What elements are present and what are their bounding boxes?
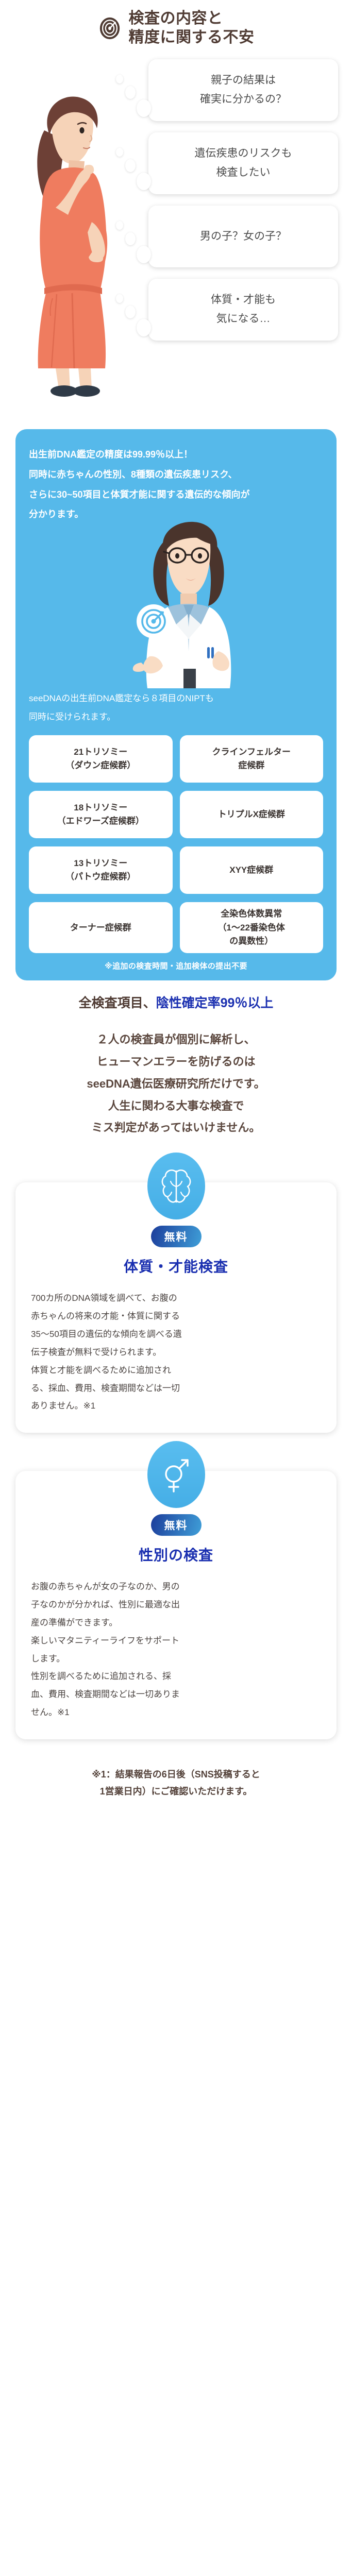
accuracy-statement-heading-plain: 全検査項目、 [79,996,156,1010]
nipt-item-line-1: 全染色体数異常 [218,907,285,921]
footnote-line-2: 1営業日内）にご確認いただけます。 [15,1783,337,1800]
page-header: 検査の内容と 精度に関する不安 [0,0,352,52]
nipt-item-line-1: XYY症候群 [229,863,273,877]
feature-line-6: 性別を調べるために追加される、採 [31,1668,321,1686]
feature-title: 性別の検査 [31,1544,321,1565]
nipt-item-line-2: 症候群 [212,759,291,772]
feature-card-gender: 無料 性別の検査 お腹の赤ちゃんが女の子なのか、男の 子なのかが分かれば、性別に… [15,1471,337,1739]
accuracy-lead-text: 出生前DNA鑑定の精度は99.99％以上！ 同時に赤ちゃんの性別、8種類の遺伝疾… [29,445,323,524]
feature-line-7: 血、費用、検査期間などは一切ありま [31,1686,321,1704]
nipt-intro-line-2: 同時に受けられます。 [29,708,323,726]
feature-card-trait-talent: 無料 体質・才能検査 700カ所のDNA領域を調べて、お腹の 赤ちゃんの将来の才… [15,1182,337,1433]
thought-bubble: 男の子？女の子？ [148,206,338,267]
feature-line-2: 子なのかが分かれば、性別に最適な出 [31,1596,321,1614]
thought-bubble-text: 親子の結果は 確実に分かるの？ [200,71,287,109]
nipt-item-label: クラインフェルター 症候群 [212,745,291,773]
feature-line-3: 産の準備ができます。 [31,1614,321,1632]
thought-bubble-text: 男の子？女の子？ [200,227,287,246]
feature-line-5: 体質と才能を調べるために追加され [31,1362,321,1380]
nipt-item-line-1: 18トリソミー [57,801,144,815]
statement-body-line-5: ミス判定があってはいけません。 [18,1117,334,1139]
nipt-item-line-1: 21トリソミー [65,745,136,759]
nipt-item-label: ターナー症候群 [70,921,131,935]
nipt-item-line-2: （パトウ症候群） [65,870,136,884]
nipt-item: ターナー症候群 [29,902,173,953]
footnote-line-1: ※1：結果報告の6日後（SNS投稿すると [15,1766,337,1783]
statement-body-line-4: 人生に関わる大事な検査で [18,1095,334,1117]
nipt-item: クラインフェルター 症候群 [180,735,324,783]
free-badge: 無料 [151,1514,202,1536]
feature-card-body: 無料 体質・才能検査 700カ所のDNA領域を調べて、お腹の 赤ちゃんの将来の才… [15,1182,337,1433]
bubble-line-2: 確実に分かるの？ [200,90,287,109]
nipt-item-label: 全染色体数異常 （1〜22番染色体 の異数性） [218,907,285,948]
nipt-intro-text: seeDNAの出生前DNA鑑定なら８項目のNIPTも 同時に受けられます。 [29,689,323,726]
nipt-item-line-2: （エドワーズ症候群） [57,815,144,828]
bubble-line-1: 親子の結果は [211,74,276,86]
feature-description: 700カ所のDNA領域を調べて、お腹の 赤ちゃんの将来の才能・体質に関する 35… [31,1290,321,1415]
page-title: 検査の内容と 精度に関する不安 [129,9,255,47]
accuracy-lead-line-2: 同時に赤ちゃんの性別、8種類の遺伝疾患リスク、 [29,465,323,485]
nipt-item: 21トリソミー （ダウン症候群） [29,735,173,783]
nipt-item-line-2: （ダウン症候群） [65,759,136,772]
hero-section: 親子の結果は 確実に分かるの？ 遺伝疾患のリスクも 検査したい 男の子？女の子？ [0,59,352,420]
page-footnote: ※1：結果報告の6日後（SNS投稿すると 1営業日内）にご確認いただけます。 [0,1766,352,1801]
feature-line-1: 700カ所のDNA領域を調べて、お腹の [31,1290,321,1308]
feature-line-6: る、採血、費用、検査期間などは一切 [31,1380,321,1398]
free-badge: 無料 [151,1226,202,1247]
thought-bubble-text: 体質・才能も 気になる… [211,291,276,329]
nipt-item-label: 18トリソミー （エドワーズ症候群） [57,801,144,828]
accuracy-lead-line-1: 出生前DNA鑑定の精度は99.99％以上！ [29,445,323,465]
statement-body-line-2: ヒューマンエラーを防げるのは [18,1051,334,1073]
nipt-item: 全染色体数異常 （1〜22番染色体 の異数性） [180,902,324,953]
statement-body-line-3: seeDNA遺伝医療研究所だけです。 [18,1073,334,1095]
nipt-item-label: トリプルX症候群 [218,808,285,821]
page-title-line1: 検査の内容と [129,10,223,27]
accuracy-lead-line-4: 分かります。 [29,504,323,524]
nipt-item-line-3: の異数性） [218,935,285,948]
nipt-item-label: 13トリソミー （パトウ症候群） [65,857,136,884]
feature-line-4: 楽しいマタニティーライフをサポート [31,1632,321,1650]
feature-line-3: 35〜50項目の遺伝的な傾向を調べる遺 [31,1326,321,1344]
target-icon [98,16,122,40]
feature-line-1: お腹の赤ちゃんが女の子なのか、男の [31,1578,321,1596]
statement-body-line-1: ２人の検査員が個別に解析し、 [18,1029,334,1051]
nipt-item: 18トリソミー （エドワーズ症候群） [29,791,173,838]
bubble-line-2: 気になる… [211,310,276,329]
nipt-item-label: XYY症候群 [229,863,273,877]
nipt-item-grid: 21トリソミー （ダウン症候群） クラインフェルター 症候群 18トリソミー （… [29,735,323,953]
pregnant-woman-illustration [14,70,128,399]
doctor-illustration-wrap [29,522,323,688]
feature-title: 体質・才能検査 [31,1256,321,1276]
accuracy-info-card: 出生前DNA鑑定の精度は99.99％以上！ 同時に赤ちゃんの性別、8種類の遺伝疾… [15,429,337,980]
nipt-item-line-1: 13トリソミー [65,857,136,870]
brain-icon [147,1153,205,1219]
gender-symbol-icon [147,1441,205,1508]
bubble-line-1: 男の子？女の子？ [200,230,287,242]
accuracy-statement-body: ２人の検査員が個別に解析し、 ヒューマンエラーを防げるのは seeDNA遺伝医療… [18,1029,334,1139]
thought-bubble-text: 遺伝疾患のリスクも 検査したい [195,144,292,182]
female-doctor-illustration [111,518,266,688]
feature-description: お腹の赤ちゃんが女の子なのか、男の 子なのかが分かれば、性別に最適な出 産の準備… [31,1578,321,1722]
accuracy-statement-heading-accent: 陰性確定率99％以上 [156,996,274,1010]
bubble-line-1: 遺伝疾患のリスクも [195,147,292,159]
nipt-item-label: 21トリソミー （ダウン症候群） [65,745,136,773]
feature-card-body: 無料 性別の検査 お腹の赤ちゃんが女の子なのか、男の 子なのかが分かれば、性別に… [15,1471,337,1739]
bubble-line-1: 体質・才能も [211,294,276,306]
thought-bubble: 親子の結果は 確実に分かるの？ [148,59,338,121]
bubble-line-2: 検査したい [195,163,292,182]
thought-bubble: 体質・才能も 気になる… [148,279,338,341]
accuracy-statement-section: 全検査項目、陰性確定率99％以上 ２人の検査員が個別に解析し、 ヒューマンエラー… [0,980,352,1144]
feature-line-4: 伝子検査が無料で受けられます。 [31,1344,321,1362]
feature-line-8: せん。※1 [31,1704,321,1722]
page-title-line2: 精度に関する不安 [129,28,255,47]
nipt-footnote: ※追加の検査時間・追加検体の提出不要 [29,960,323,971]
nipt-item: XYY症候群 [180,846,324,894]
nipt-item: トリプルX症候群 [180,791,324,838]
accuracy-lead-line-3: さらに30~50項目と体質才能に関する遺伝的な傾向が [29,485,323,505]
thought-bubble: 遺伝疾患のリスクも 検査したい [148,132,338,194]
nipt-item-line-1: クラインフェルター [212,745,291,759]
nipt-item-line-1: トリプルX症候群 [218,808,285,821]
feature-line-2: 赤ちゃんの将来の才能・体質に関する [31,1308,321,1326]
feature-line-5: します。 [31,1650,321,1668]
nipt-item: 13トリソミー （パトウ症候群） [29,846,173,894]
nipt-item-line-2: （1〜22番染色体 [218,921,285,935]
nipt-intro-line-1: seeDNAの出生前DNA鑑定なら８項目のNIPTも [29,689,323,708]
nipt-item-line-1: ターナー症候群 [70,921,131,935]
feature-line-7: ありません。※1 [31,1397,321,1415]
thought-bubble-list: 親子の結果は 確実に分かるの？ 遺伝疾患のリスクも 検査したい 男の子？女の子？ [148,59,338,341]
accuracy-statement-heading: 全検査項目、陰性確定率99％以上 [18,994,334,1013]
